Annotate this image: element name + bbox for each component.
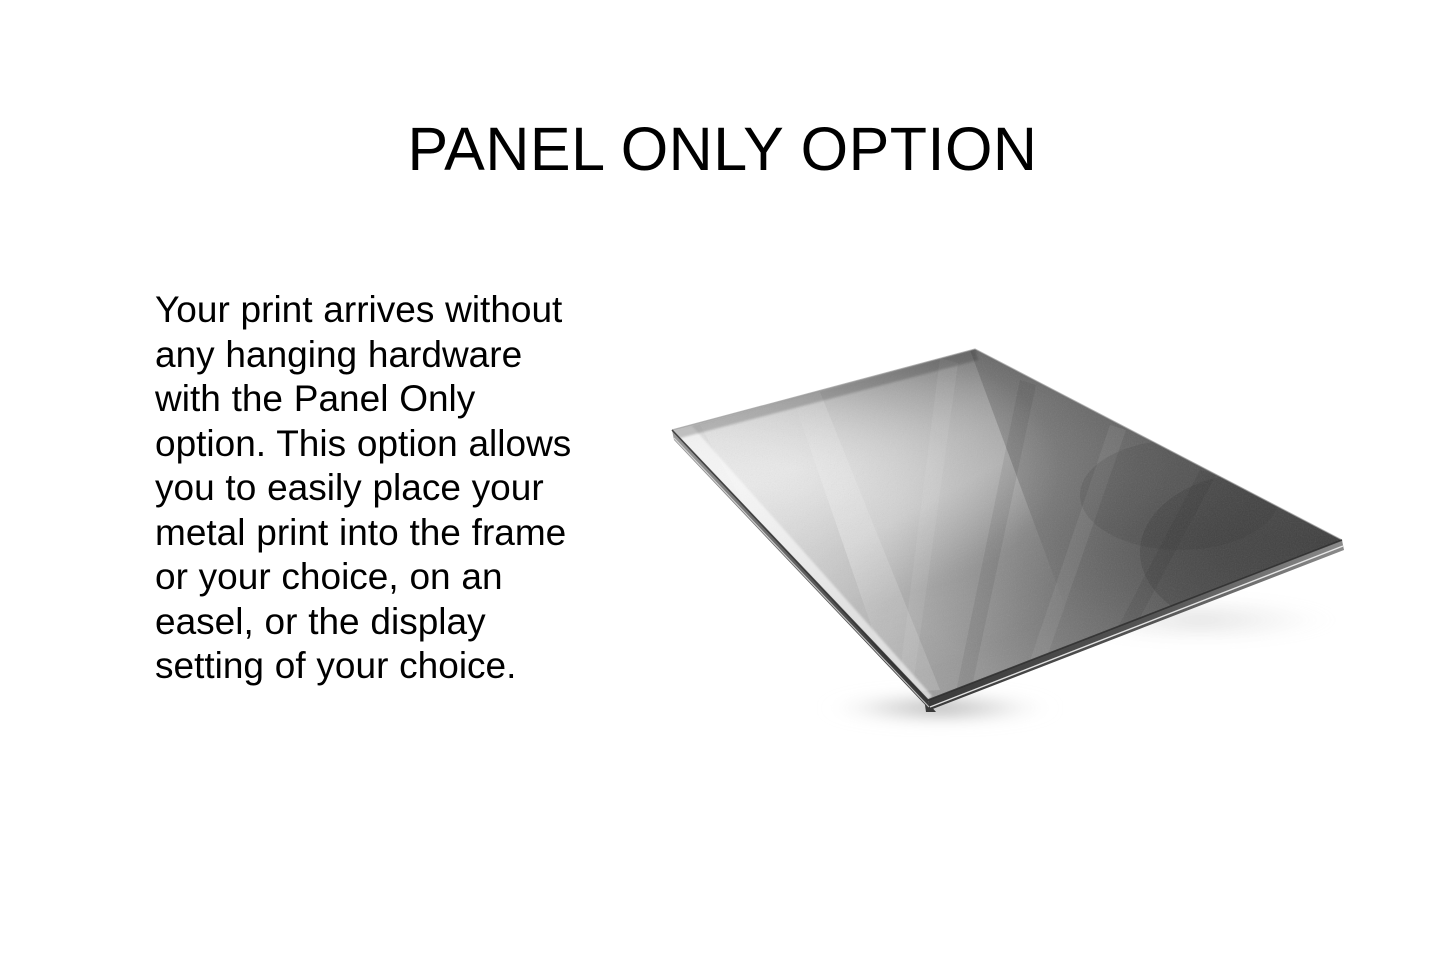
metal-panel-image (640, 320, 1370, 750)
slide-canvas: PANEL ONLY OPTION Your print arrives wit… (0, 0, 1445, 963)
body-paragraph: Your print arrives without any hanging h… (155, 288, 575, 689)
metal-panel-svg (640, 320, 1370, 750)
page-title: PANEL ONLY OPTION (0, 117, 1445, 181)
